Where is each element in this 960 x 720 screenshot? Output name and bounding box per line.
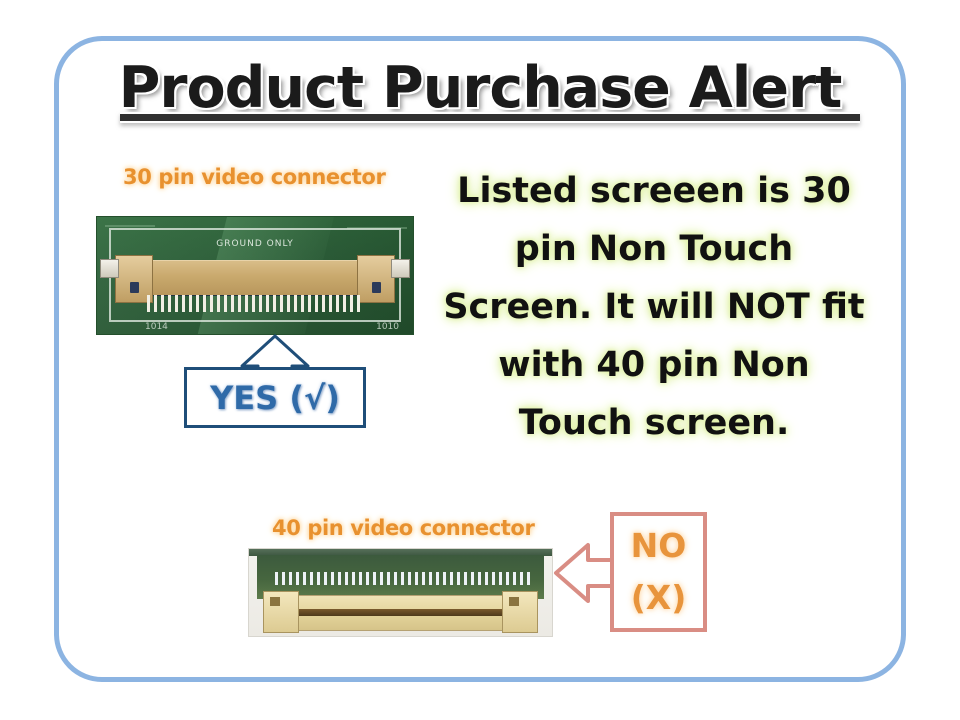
pcb-solder-tab-right [391,259,410,278]
verdict-yes-label: YES (√) [187,379,363,417]
alert-message-text: Listed screeen is 30 pin Non Touch Scree… [442,162,866,452]
image-40-pin-connector-photo: XUN-LI-ZK [248,548,553,637]
pcb-silkscreen-left-code: 1014 [145,322,168,332]
pcb40-ear-hole [270,597,280,606]
verdict-no-box: NO (X) [610,512,707,632]
pcb40-ear-hole [509,597,519,606]
arrow-left-icon [553,540,615,606]
verdict-no-line1: NO [614,520,703,572]
pcb-ear-dot [130,282,139,293]
alert-graphic-canvas: Product Purchase Alert 30 pin video conn… [0,0,960,720]
pcb-connector-body [131,260,379,295]
page-title-text: Product Purchase Alert [119,58,842,118]
title-underline-rule [120,112,860,123]
image-30-pin-connector-photo: GROUND ONLY 1014 1010 [96,216,414,335]
pcb-solder-tab-left [100,259,119,278]
pcb-silkscreen-ground-only: GROUND ONLY [97,239,413,249]
verdict-no-line2: (X) [614,572,703,624]
verdict-no-label: NO (X) [614,520,703,624]
caption-40-pin-video-connector: 40 pin video connector [272,516,534,540]
pcb40-connector-slot [296,609,505,616]
pcb-trace [105,225,155,227]
pcb-ear-dot [372,282,381,293]
verdict-yes-box: YES (√) [184,367,366,428]
pcb40-connector-ear-right [502,591,538,633]
pcb-pin-row [147,295,363,312]
pcb40-connector-body [267,595,534,631]
caption-30-pin-video-connector: 30 pin video connector [123,165,385,189]
page-title: Product Purchase Alert [54,58,906,118]
pcb-silkscreen-right-code: 1010 [376,322,399,332]
pcb40-pin-row [275,572,532,585]
pcb40-connector-ear-left [263,591,299,633]
